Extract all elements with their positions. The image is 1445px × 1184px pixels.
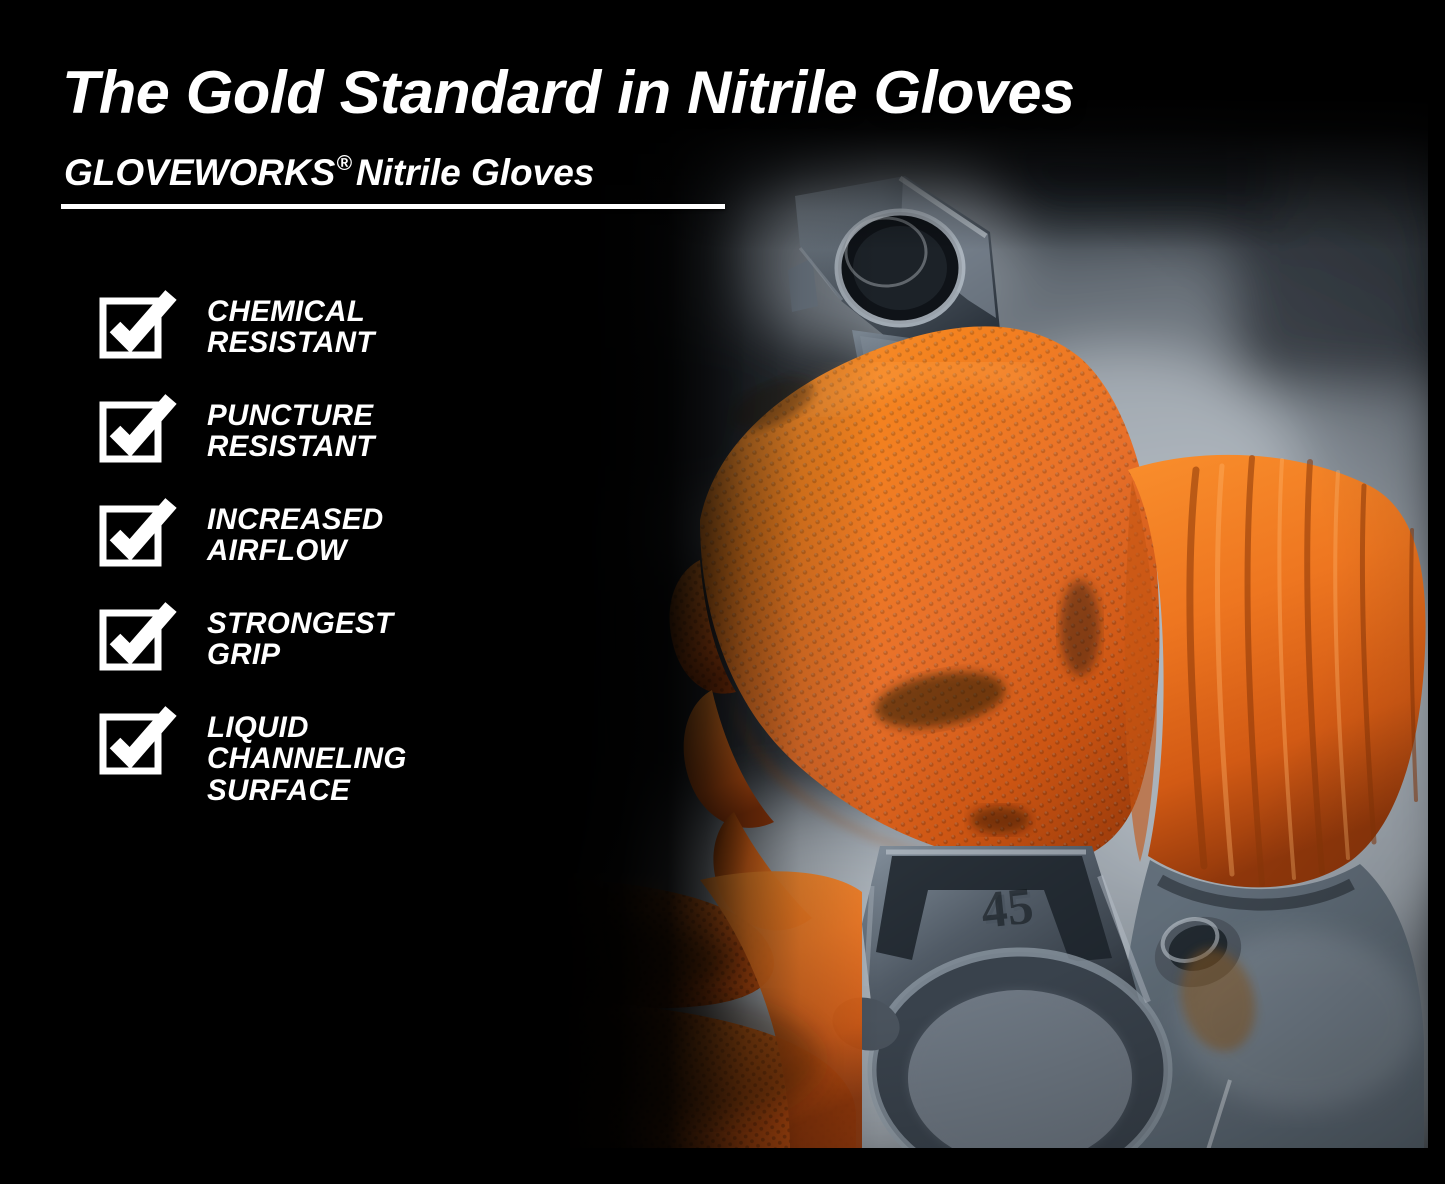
checkbox-checked-icon: [100, 500, 178, 566]
feature-label: LIQUID CHANNELING SURFACE: [207, 712, 407, 806]
product-name: Nitrile Gloves: [356, 152, 595, 193]
checkbox-checked-icon: [100, 708, 178, 774]
feature-label: INCREASED AIRFLOW: [207, 504, 383, 567]
checkbox-checked-icon: [100, 292, 178, 358]
checkbox-checked-icon: [100, 604, 178, 670]
feature-label: PUNCTURE RESISTANT: [207, 400, 375, 463]
feature-label: CHEMICAL RESISTANT: [207, 296, 375, 359]
title-divider: [61, 204, 725, 209]
page-title: The Gold Standard in Nitrile Gloves: [62, 58, 1419, 127]
checkbox-checked-icon: [100, 396, 178, 462]
registered-trademark-icon: ®: [336, 152, 351, 175]
brand-name: GLOVEWORKS: [64, 152, 335, 193]
product-advertisement: 45 45: [0, 0, 1445, 1184]
text-overlay: The Gold Standard in Nitrile Gloves GLOV…: [0, 0, 1445, 1184]
brand-subtitle: GLOVEWORKS®Nitrile Gloves: [64, 152, 594, 194]
feature-label: STRONGEST GRIP: [207, 608, 393, 671]
